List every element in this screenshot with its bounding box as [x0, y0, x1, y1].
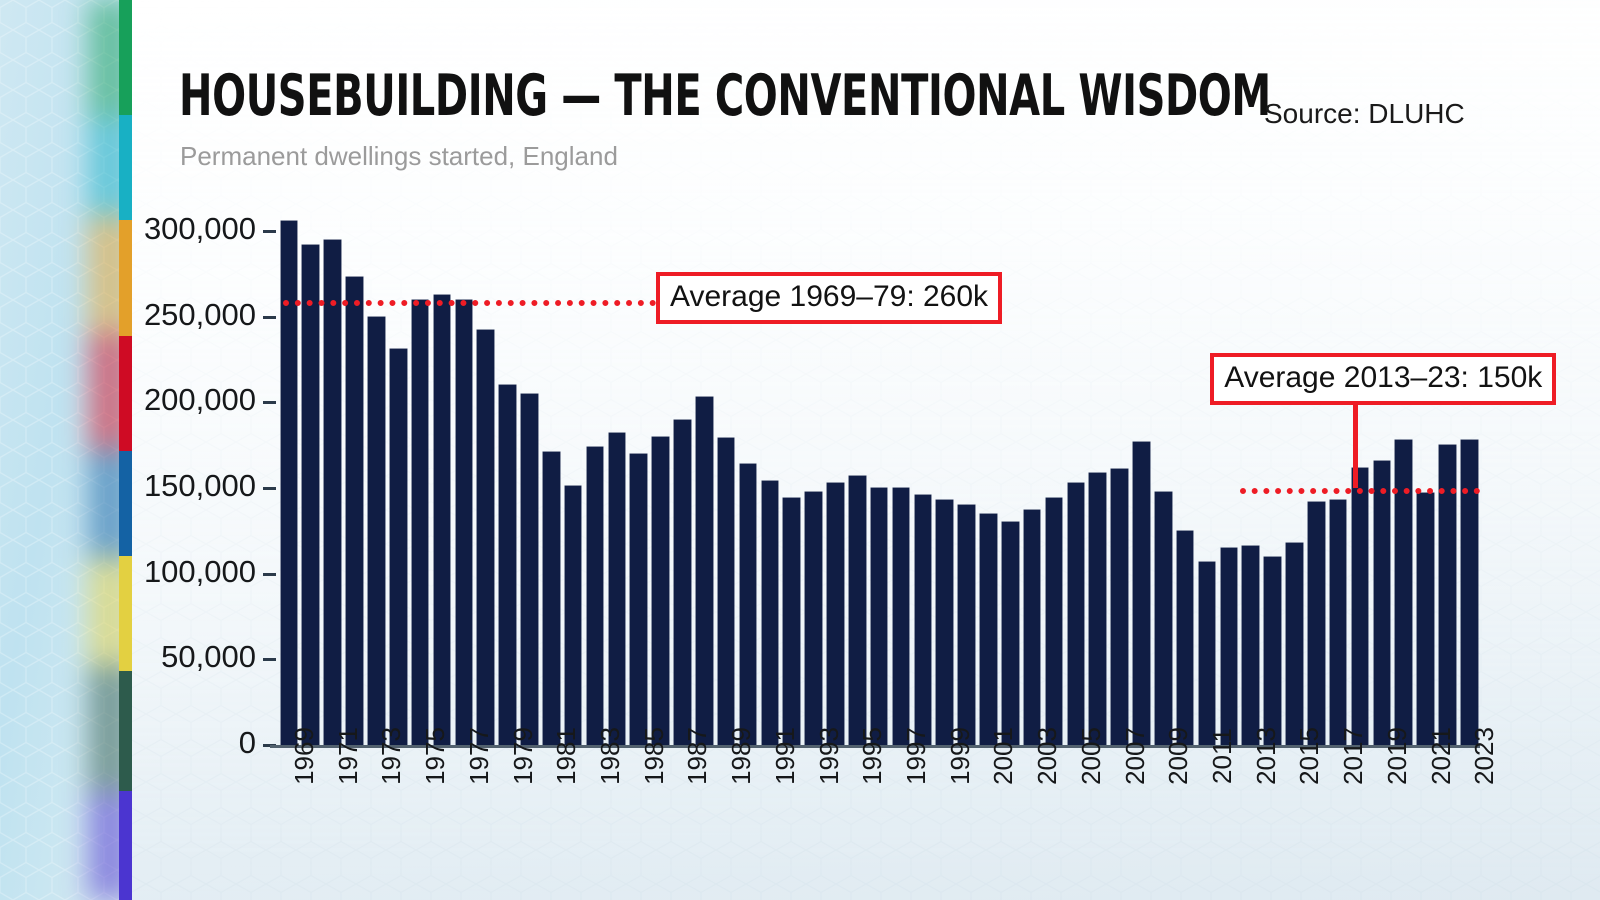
bar-2021[interactable] — [1417, 493, 1434, 745]
bar-1976[interactable] — [434, 295, 451, 745]
bar-2013[interactable] — [1242, 546, 1259, 745]
bar-slot — [1065, 214, 1087, 745]
bar-2018[interactable] — [1352, 468, 1369, 745]
x-slot — [387, 750, 409, 900]
y-tick-label: 150,000 — [144, 468, 256, 504]
bar-2004[interactable] — [1046, 498, 1063, 745]
bar-2005[interactable] — [1068, 483, 1085, 745]
y-tick-label: 200,000 — [144, 382, 256, 418]
x-slot — [868, 750, 890, 900]
bar-slot — [1152, 214, 1174, 745]
bar-1988[interactable] — [696, 397, 713, 745]
x-slot: 1993 — [803, 750, 825, 900]
bar-1985[interactable] — [630, 454, 647, 745]
x-slot: 1995 — [846, 750, 868, 900]
bar-1980[interactable] — [521, 394, 538, 745]
bar-1990[interactable] — [740, 464, 757, 745]
average-line-2013-23 — [1240, 488, 1480, 494]
stripe-segment-red — [119, 336, 132, 451]
bar-1992[interactable] — [783, 498, 800, 745]
y-tick-mark — [263, 658, 276, 661]
x-slot: 1997 — [890, 750, 912, 900]
bar-2012[interactable] — [1221, 548, 1238, 745]
x-slot — [1393, 750, 1415, 900]
x-slot — [1349, 750, 1371, 900]
y-tick-label: 50,000 — [161, 639, 256, 675]
chart-subtitle: Permanent dwellings started, England — [180, 141, 618, 172]
stripe-segment-yellow — [119, 556, 132, 671]
stripe-segment-teal — [119, 115, 132, 220]
chart-canvas: HOUSEBUILDING — THE CONVENTIONAL WISDOM … — [131, 0, 1600, 900]
bar-slot — [1196, 214, 1218, 745]
bar-slot — [1284, 214, 1306, 745]
bar-2002[interactable] — [1002, 522, 1019, 745]
bar-slot — [1174, 214, 1196, 745]
bar-slot — [365, 214, 387, 745]
bar-slot — [1240, 214, 1262, 745]
bar-slot — [1415, 214, 1437, 745]
x-slot: 2011 — [1196, 750, 1218, 900]
bar-1972[interactable] — [346, 277, 363, 745]
bar-slot — [431, 214, 453, 745]
bar-slot — [344, 214, 366, 745]
bar-2020[interactable] — [1395, 440, 1412, 745]
x-slot: 1989 — [715, 750, 737, 900]
x-slot — [1131, 750, 1153, 900]
x-slot: 1969 — [278, 750, 300, 900]
stripe-segment-darkgreen — [119, 671, 132, 791]
bar-slot — [1021, 214, 1043, 745]
x-slot — [999, 750, 1021, 900]
x-slot — [1437, 750, 1459, 900]
x-slot: 1975 — [409, 750, 431, 900]
bar-1993[interactable] — [805, 492, 822, 746]
annotation-box-2013-23: Average 2013–23: 150k — [1210, 353, 1556, 405]
x-slot: 2003 — [1021, 750, 1043, 900]
bar-slot — [1305, 214, 1327, 745]
bar-1987[interactable] — [674, 420, 691, 745]
bar-2016[interactable] — [1308, 502, 1325, 745]
stripe-segment-purple — [119, 791, 132, 900]
x-slot: 1991 — [759, 750, 781, 900]
x-slot — [606, 750, 628, 900]
bar-1995[interactable] — [849, 476, 866, 745]
x-slot: 1987 — [671, 750, 693, 900]
bar-slot — [518, 214, 540, 745]
x-slot — [431, 750, 453, 900]
y-tick-mark — [263, 573, 276, 576]
bar-slot — [1458, 214, 1480, 745]
bar-2011[interactable] — [1199, 562, 1216, 745]
bar-slot — [300, 214, 322, 745]
x-slot — [300, 750, 322, 900]
x-slot — [562, 750, 584, 900]
page-title: HOUSEBUILDING — THE CONVENTIONAL WISDOM — [179, 66, 1271, 126]
bar-1983[interactable] — [587, 447, 604, 745]
x-tick-label-2023: 2023 — [1469, 727, 1500, 785]
bar-2007[interactable] — [1111, 469, 1128, 745]
y-tick-mark — [263, 401, 276, 404]
bar-slot — [1393, 214, 1415, 745]
x-slot: 1973 — [365, 750, 387, 900]
bar-slot — [409, 214, 431, 745]
x-slot: 1985 — [628, 750, 650, 900]
bar-1977[interactable] — [456, 300, 473, 745]
x-slot: 2007 — [1109, 750, 1131, 900]
bar-1970[interactable] — [302, 245, 319, 745]
stripe-segment-orange — [119, 220, 132, 335]
bar-slot — [584, 214, 606, 745]
bar-1998[interactable] — [915, 495, 932, 745]
bar-1996[interactable] — [871, 488, 888, 745]
x-slot — [956, 750, 978, 900]
x-slot — [650, 750, 672, 900]
x-slot: 2001 — [978, 750, 1000, 900]
color-stripe — [119, 0, 132, 900]
bar-2010[interactable] — [1177, 531, 1194, 745]
bar-2003[interactable] — [1024, 510, 1041, 745]
x-slot — [1043, 750, 1065, 900]
bar-2000[interactable] — [958, 505, 975, 745]
x-slot — [475, 750, 497, 900]
y-tick-mark — [263, 316, 276, 319]
bar-1991[interactable] — [762, 481, 779, 745]
x-slot — [693, 750, 715, 900]
bar-1984[interactable] — [609, 433, 626, 745]
x-slot — [737, 750, 759, 900]
x-slot: 1977 — [453, 750, 475, 900]
x-slot — [824, 750, 846, 900]
x-slot: 2023 — [1458, 750, 1480, 900]
x-slot: 2009 — [1152, 750, 1174, 900]
bar-1971[interactable] — [324, 240, 341, 745]
stripe-segment-blue — [119, 451, 132, 556]
bar-1981[interactable] — [543, 452, 560, 745]
bar-slot — [999, 214, 1021, 745]
x-slot: 2015 — [1284, 750, 1306, 900]
bar-slot — [1131, 214, 1153, 745]
x-slot: 2021 — [1415, 750, 1437, 900]
bar-1999[interactable] — [936, 500, 953, 745]
bar-2014[interactable] — [1264, 557, 1281, 745]
bar-slot — [1043, 214, 1065, 745]
bar-slot — [1327, 214, 1349, 745]
annotation-box-1969-79: Average 1969–79: 260k — [656, 272, 1002, 324]
x-axis-labels: 1969197119731975197719791981198319851987… — [278, 750, 1480, 900]
bar-2023[interactable] — [1461, 440, 1478, 745]
bar-slot — [1371, 214, 1393, 745]
bar-1975[interactable] — [412, 300, 429, 745]
bar-1989[interactable] — [718, 438, 735, 745]
bar-2017[interactable] — [1330, 500, 1347, 745]
x-slot — [781, 750, 803, 900]
bar-slot — [1262, 214, 1284, 745]
x-slot — [1262, 750, 1284, 900]
x-slot — [1305, 750, 1327, 900]
bar-slot — [475, 214, 497, 745]
bar-1994[interactable] — [827, 483, 844, 745]
x-slot: 1999 — [934, 750, 956, 900]
x-slot: 2019 — [1371, 750, 1393, 900]
bar-1973[interactable] — [368, 317, 385, 745]
bar-2006[interactable] — [1089, 473, 1106, 745]
bar-2019[interactable] — [1374, 461, 1391, 745]
bar-slot — [1218, 214, 1240, 745]
left-decorative-band — [0, 0, 131, 900]
plot-area: 050,000100,000150,000200,000250,000300,0… — [278, 214, 1480, 745]
bar-1982[interactable] — [565, 486, 582, 745]
x-slot — [912, 750, 934, 900]
bar-1997[interactable] — [893, 488, 910, 745]
bar-slot — [1437, 214, 1459, 745]
bar-slot — [1087, 214, 1109, 745]
bar-slot — [453, 214, 475, 745]
x-slot: 2005 — [1065, 750, 1087, 900]
stripe-segment-green — [119, 0, 132, 115]
y-tick-label: 0 — [239, 725, 256, 761]
bar-slot — [497, 214, 519, 745]
annotation-leader-line — [1353, 401, 1358, 488]
x-slot: 1983 — [584, 750, 606, 900]
y-tick-mark — [263, 230, 276, 233]
bar-slot — [628, 214, 650, 745]
x-slot: 1971 — [322, 750, 344, 900]
x-slot: 1981 — [540, 750, 562, 900]
bar-2009[interactable] — [1155, 492, 1172, 746]
bar-slot — [562, 214, 584, 745]
bar-1979[interactable] — [499, 385, 516, 745]
bar-1974[interactable] — [390, 349, 407, 745]
source-label: Source: DLUHC — [1264, 98, 1465, 130]
average-line-1969-79 — [283, 300, 656, 306]
x-slot: 2013 — [1240, 750, 1262, 900]
x-slot — [1218, 750, 1240, 900]
y-tick-mark — [263, 487, 276, 490]
bar-2001[interactable] — [980, 514, 997, 745]
x-slot — [1087, 750, 1109, 900]
bar-slot — [540, 214, 562, 745]
bar-slot — [1109, 214, 1131, 745]
bar-1986[interactable] — [652, 437, 669, 745]
y-tick-label: 300,000 — [144, 211, 256, 247]
bar-slot — [387, 214, 409, 745]
bar-1978[interactable] — [477, 330, 494, 745]
bar-2015[interactable] — [1286, 543, 1303, 745]
x-slot — [344, 750, 366, 900]
x-slot: 2017 — [1327, 750, 1349, 900]
bar-2008[interactable] — [1133, 442, 1150, 745]
bar-slot — [322, 214, 344, 745]
y-tick-label: 250,000 — [144, 297, 256, 333]
x-slot — [518, 750, 540, 900]
bar-slot — [278, 214, 300, 745]
x-slot: 1979 — [497, 750, 519, 900]
x-slot — [1174, 750, 1196, 900]
y-tick-label: 100,000 — [144, 554, 256, 590]
bar-slot — [606, 214, 628, 745]
